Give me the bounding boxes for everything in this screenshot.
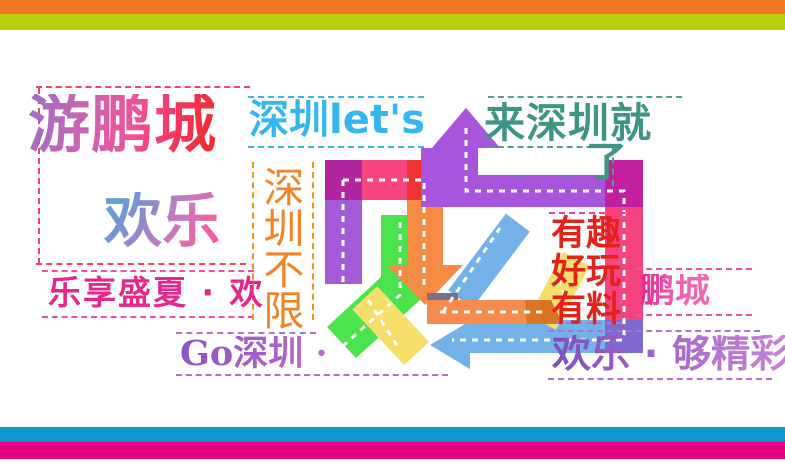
tagline-peng-cheng: 鹏城 <box>640 274 710 309</box>
top-orange-bar <box>0 0 785 14</box>
dash-rule-goshenzhen-bottom <box>176 374 448 376</box>
tagline-lai-shenzhen-jiu-second-line: 了 <box>586 142 627 183</box>
dash-rule-laishenzhen-top <box>488 96 682 98</box>
tagline-shenzhen-buxian: 深圳不限 <box>258 166 300 330</box>
top-green-bar <box>0 14 785 30</box>
tagline-le-xiang-sheng-xia: 乐享盛夏 · 欢 <box>48 276 265 309</box>
glyph-orange-down-arrow <box>387 200 463 305</box>
dash-rule-pengcheng-bottom <box>636 314 752 316</box>
dash-rule-youpengcheng-bottom <box>36 263 246 265</box>
tagline-go-shenzhen: Go深圳 · <box>180 336 328 371</box>
tagline-shenzhen-lets: 深圳let's <box>249 100 425 140</box>
bottom-pink-bar <box>0 442 785 459</box>
glyph-corner-purple <box>325 160 362 200</box>
tagline-huan-le-gou-jing-cai: 欢乐 · 够精彩 <box>552 335 785 374</box>
bottom-blue-bar <box>0 427 785 442</box>
glyph-green-stroke <box>327 215 420 358</box>
glyph-top-pink <box>362 160 407 200</box>
headline-huan-le: 欢乐 <box>104 192 220 250</box>
dash-rule-lexiang-top <box>42 270 254 272</box>
glyph-top-red <box>407 160 443 200</box>
dash-rule-pengcheng-top <box>636 268 752 270</box>
glyph-inner-orange-bar <box>427 300 549 324</box>
promo-banner: 游鹏城 欢乐 乐享盛夏 · 欢 深圳let's 深圳不限 来深圳就 了 有趣 好… <box>0 0 785 470</box>
dash-rule-lets-bottom <box>248 146 424 148</box>
dash-rule-lexiang-bottom <box>42 316 254 318</box>
tagline-you-qu-hao-wan-you-liao: 有趣 好玩 有料 <box>551 216 621 329</box>
dash-rule-jingcai-bottom <box>548 378 772 380</box>
glyph-inner-blue-bar <box>448 214 530 309</box>
headline-you-peng-cheng: 游鹏城 <box>28 94 217 156</box>
glyph-loose-yellow-diamond <box>352 286 429 365</box>
glyph-left-violet <box>325 200 362 284</box>
glyph-inner-gray <box>427 293 458 324</box>
dash-rule-buxian-right <box>312 162 314 320</box>
